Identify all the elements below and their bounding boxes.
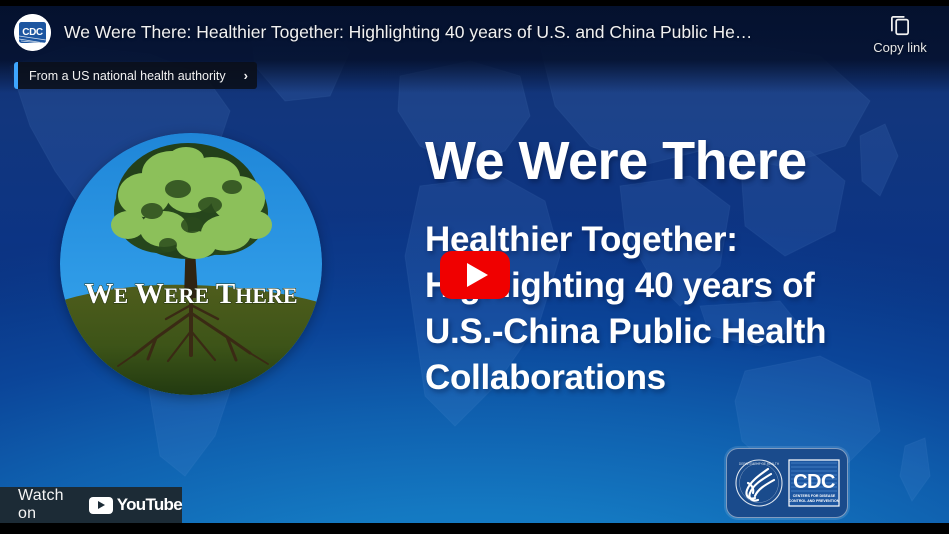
thumbnail-subhead: Healthier Together: Highlighting 40 year… <box>425 217 925 400</box>
top-letterbox-strip <box>0 0 949 6</box>
youtube-play-triangle-icon <box>98 501 105 509</box>
play-triangle-icon <box>467 263 488 287</box>
subhead-line-3: U.S.-China Public Health <box>425 309 925 355</box>
youtube-embedded-player[interactable]: WE WERE THERE We Were There Healthier To… <box>0 0 949 534</box>
svg-text:CONTROL AND PREVENTION: CONTROL AND PREVENTION <box>789 499 840 503</box>
cdc-wordmark-icon: CDC CENTERS FOR DISEASE CONTROL AND PREV… <box>788 459 840 507</box>
watch-on-youtube-button[interactable]: Watch on YouTube <box>0 487 182 523</box>
thumbnail-headline: We Were There <box>425 134 925 189</box>
video-title[interactable]: We Were There: Healthier Together: Highl… <box>64 21 752 44</box>
health-authority-badge[interactable]: From a US national health authority › <box>14 62 257 89</box>
youtube-wordmark: YouTube <box>117 495 182 515</box>
youtube-logo: YouTube <box>89 495 182 515</box>
youtube-play-icon <box>89 497 113 514</box>
subhead-line-4: Collaborations <box>425 355 925 401</box>
svg-text:CDC: CDC <box>22 27 43 38</box>
we-were-there-tree-logo: WE WERE THERE <box>60 133 322 395</box>
play-video-button[interactable] <box>440 251 510 299</box>
svg-text:DEPARTMENT OF HEALTH: DEPARTMENT OF HEALTH <box>739 462 780 466</box>
copy-icon <box>887 12 913 38</box>
chevron-right-icon: › <box>244 69 248 82</box>
player-header-row: CDC We Were There: Healthier Together: H… <box>0 8 949 56</box>
cdc-hhs-logo: DEPARTMENT OF HEALTH CDC CENTERS FOR DIS… <box>726 448 848 518</box>
channel-avatar[interactable]: CDC <box>14 14 51 51</box>
bottom-letterbox-strip <box>0 523 949 534</box>
copy-link-label: Copy link <box>873 40 926 55</box>
hhs-seal-icon: DEPARTMENT OF HEALTH <box>734 457 784 509</box>
svg-text:CDC: CDC <box>793 471 835 493</box>
cdc-avatar-icon: CDC <box>14 14 51 51</box>
watch-on-label: Watch on <box>18 487 76 523</box>
svg-text:WE WERE THERE: WE WERE THERE <box>84 278 297 310</box>
health-authority-label: From a US national health authority <box>29 69 226 83</box>
svg-text:CENTERS FOR DISEASE: CENTERS FOR DISEASE <box>793 494 836 498</box>
copy-link-button[interactable]: Copy link <box>863 12 937 55</box>
